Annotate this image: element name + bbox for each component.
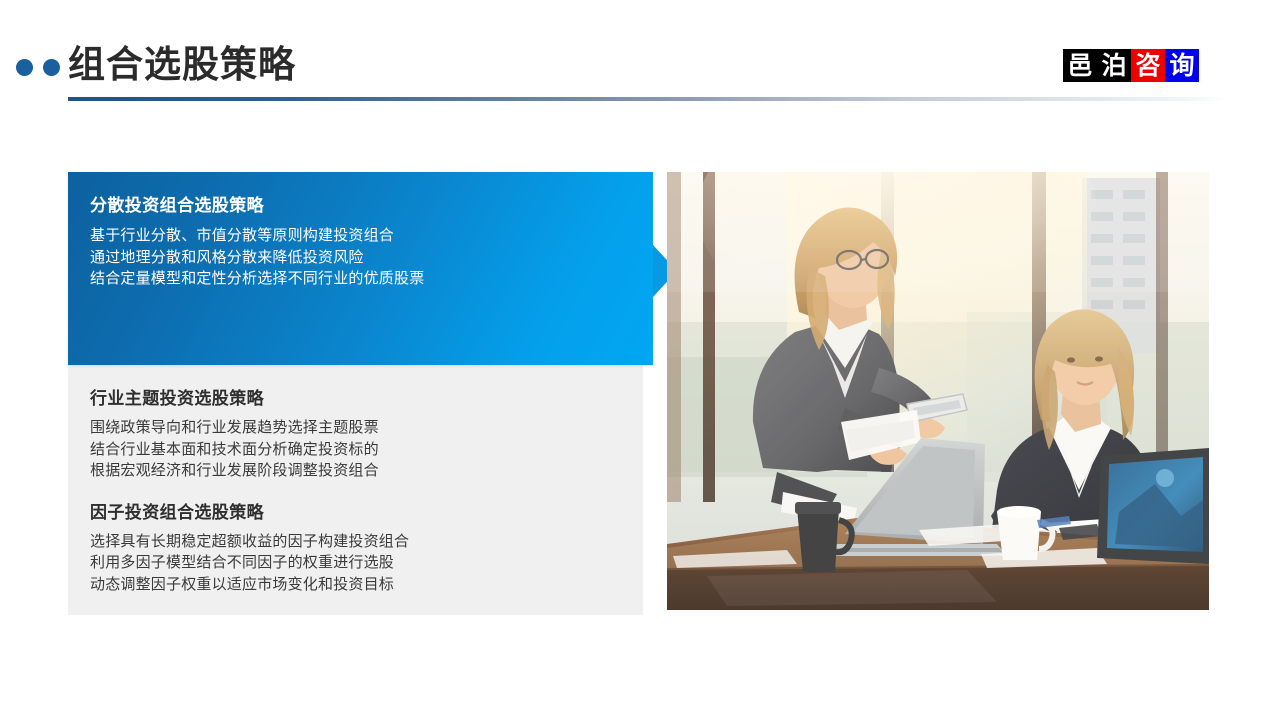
photo-illustration [667, 172, 1209, 610]
strategy-block-factor-investing[interactable]: 因子投资组合选股策略 选择具有长期稳定超额收益的因子构建投资组合 利用多因子模型… [90, 501, 643, 596]
highlight-card-line-2: 通过地理分散和风格分散来降低投资风险 [90, 247, 653, 269]
logo-char-3: 咨 [1131, 49, 1165, 82]
content-column: 分散投资组合选股策略 基于行业分散、市值分散等原则构建投资组合 通过地理分散和风… [68, 172, 653, 615]
highlight-card-line-3: 结合定量模型和定性分析选择不同行业的优质股票 [90, 268, 653, 290]
strategy-block-industry-theme[interactable]: 行业主题投资选股策略 围绕政策导向和行业发展趋势选择主题股票 结合行业基本面和技… [90, 387, 643, 482]
strategy-block-title: 行业主题投资选股策略 [90, 387, 643, 411]
highlight-card-line-1: 基于行业分散、市值分散等原则构建投资组合 [90, 225, 653, 247]
strategy-block-title: 因子投资组合选股策略 [90, 501, 643, 525]
logo-char-2: 泊 [1097, 49, 1131, 82]
bullet-dot-icon [16, 59, 33, 76]
logo-char-1: 邑 [1063, 49, 1097, 82]
bullet-dot-icon [43, 59, 60, 76]
strategy-block-line-2: 结合行业基本面和技术面分析确定投资标的 [90, 439, 643, 461]
strategy-block-line-3: 动态调整因子权重以适应市场变化和投资目标 [90, 574, 643, 596]
secondary-strategy-panel: 行业主题投资选股策略 围绕政策导向和行业发展趋势选择主题股票 结合行业基本面和技… [68, 365, 643, 615]
slide-header: 组合选股策略 邑 泊 咨 询 [0, 0, 1280, 110]
highlight-strategy-card[interactable]: 分散投资组合选股策略 基于行业分散、市值分散等原则构建投资组合 通过地理分散和风… [68, 172, 653, 365]
header-divider [68, 97, 1230, 101]
brand-logo: 邑 泊 咨 询 [1063, 49, 1199, 82]
strategy-block-line-1: 围绕政策导向和行业发展趋势选择主题股票 [90, 417, 643, 439]
business-meeting-photo [667, 172, 1209, 610]
strategy-block-line-2: 利用多因子模型结合不同因子的权重进行选股 [90, 552, 643, 574]
page-title: 组合选股策略 [68, 42, 296, 88]
strategy-block-line-1: 选择具有长期稳定超额收益的因子构建投资组合 [90, 531, 643, 553]
highlight-card-title: 分散投资组合选股策略 [90, 194, 653, 218]
strategy-block-line-3: 根据宏观经济和行业发展阶段调整投资组合 [90, 460, 643, 482]
logo-char-4: 询 [1165, 49, 1199, 82]
title-bullet-dots [16, 59, 76, 77]
